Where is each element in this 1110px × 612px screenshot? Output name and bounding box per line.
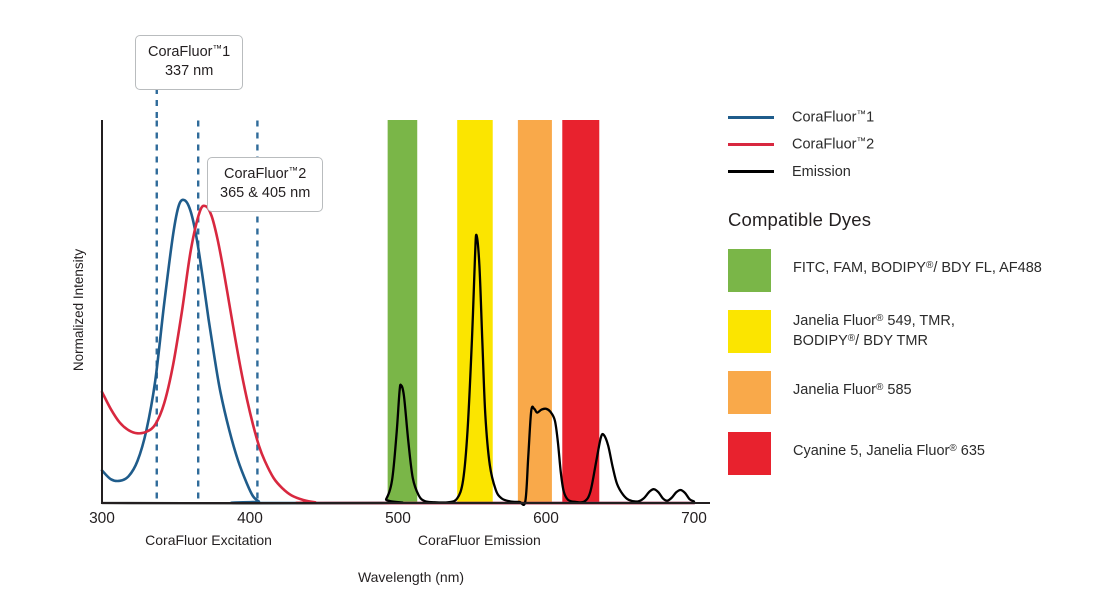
janelia549-dye-row-label: Janelia Fluor® 549, TMR,BODIPY®/ BDY TMR: [793, 310, 955, 351]
region-caption-1: CoraFluor Excitation: [145, 532, 272, 548]
corafluor2-callout: CoraFluor™2365 & 405 nm: [207, 157, 323, 212]
orange-band: [518, 120, 552, 503]
chart-legend: CoraFluor™1CoraFluor™2Emission Compatibl…: [728, 104, 1110, 475]
janelia585-dye-row-label: Janelia Fluor® 585: [793, 371, 912, 400]
region-caption-2: CoraFluor Emission: [418, 532, 541, 548]
cyanine5-dye-row-label: Cyanine 5, Janelia Fluor® 635: [793, 432, 985, 461]
line-legend-label-2: CoraFluor™2: [792, 136, 874, 153]
dye-legend-group: FITC, FAM, BODIPY®/ BDY FL, AF488Janelia…: [728, 249, 1110, 475]
janelia585-dye-row: Janelia Fluor® 585: [728, 371, 1110, 414]
line-swatch-2: [728, 143, 774, 146]
green-band: [388, 120, 418, 503]
cyanine5-dye-row: Cyanine 5, Janelia Fluor® 635: [728, 432, 1110, 475]
registered-mark: ®: [848, 333, 855, 344]
registered-mark: ®: [926, 260, 933, 271]
red-band: [562, 120, 599, 503]
trademark-mark: ™: [856, 109, 866, 120]
x-tick-label-700: 700: [681, 510, 707, 527]
corafluor1-callout: CoraFluor™1337 nm: [135, 35, 243, 90]
janelia585-dye-row-swatch: [728, 371, 771, 414]
figure-root: 300400500600700CoraFluor ExcitationCoraF…: [0, 0, 1110, 612]
trademark-mark: ™: [212, 43, 222, 54]
x-tick-label-600: 600: [533, 510, 559, 527]
line-legend-group: CoraFluor™1CoraFluor™2Emission: [728, 104, 1110, 185]
corafluor1-callout-line1: CoraFluor™1: [148, 43, 230, 62]
x-tick-label-300: 300: [89, 510, 115, 527]
line-legend-row-2: CoraFluor™2: [728, 131, 1110, 158]
fitc-dye-row-label: FITC, FAM, BODIPY®/ BDY FL, AF488: [793, 249, 1042, 278]
x-axis-title: Wavelength (nm): [358, 569, 464, 585]
y-axis-title: Normalized Intensity: [71, 249, 86, 372]
janelia549-dye-row: Janelia Fluor® 549, TMR,BODIPY®/ BDY TMR: [728, 310, 1110, 353]
x-tick-label-500: 500: [385, 510, 411, 527]
line-swatch-1: [728, 116, 774, 119]
registered-mark: ®: [876, 313, 883, 324]
janelia549-dye-row-swatch: [728, 310, 771, 353]
line-legend-row-3: Emission: [728, 158, 1110, 185]
line-legend-label-1: CoraFluor™1: [792, 109, 874, 126]
cyanine5-dye-row-swatch: [728, 432, 771, 475]
registered-mark: ®: [949, 443, 956, 454]
trademark-mark: ™: [288, 165, 298, 176]
fitc-dye-row: FITC, FAM, BODIPY®/ BDY FL, AF488: [728, 249, 1110, 292]
corafluor1-callout-line2: 337 nm: [148, 62, 230, 81]
fitc-dye-row-swatch: [728, 249, 771, 292]
spectra-chart: 300400500600700CoraFluor ExcitationCoraF…: [0, 0, 720, 612]
line-legend-row-1: CoraFluor™1: [728, 104, 1110, 131]
line-swatch-3: [728, 170, 774, 173]
registered-mark: ®: [876, 382, 883, 393]
corafluor2-callout-line1: CoraFluor™2: [220, 165, 310, 184]
line-legend-label-3: Emission: [792, 164, 851, 180]
chart-svg: 300400500600700CoraFluor ExcitationCoraF…: [0, 0, 720, 612]
compatible-dyes-heading: Compatible Dyes: [728, 209, 1110, 231]
trademark-mark: ™: [856, 136, 866, 147]
x-tick-label-400: 400: [237, 510, 263, 527]
corafluor2-callout-line2: 365 & 405 nm: [220, 184, 310, 203]
